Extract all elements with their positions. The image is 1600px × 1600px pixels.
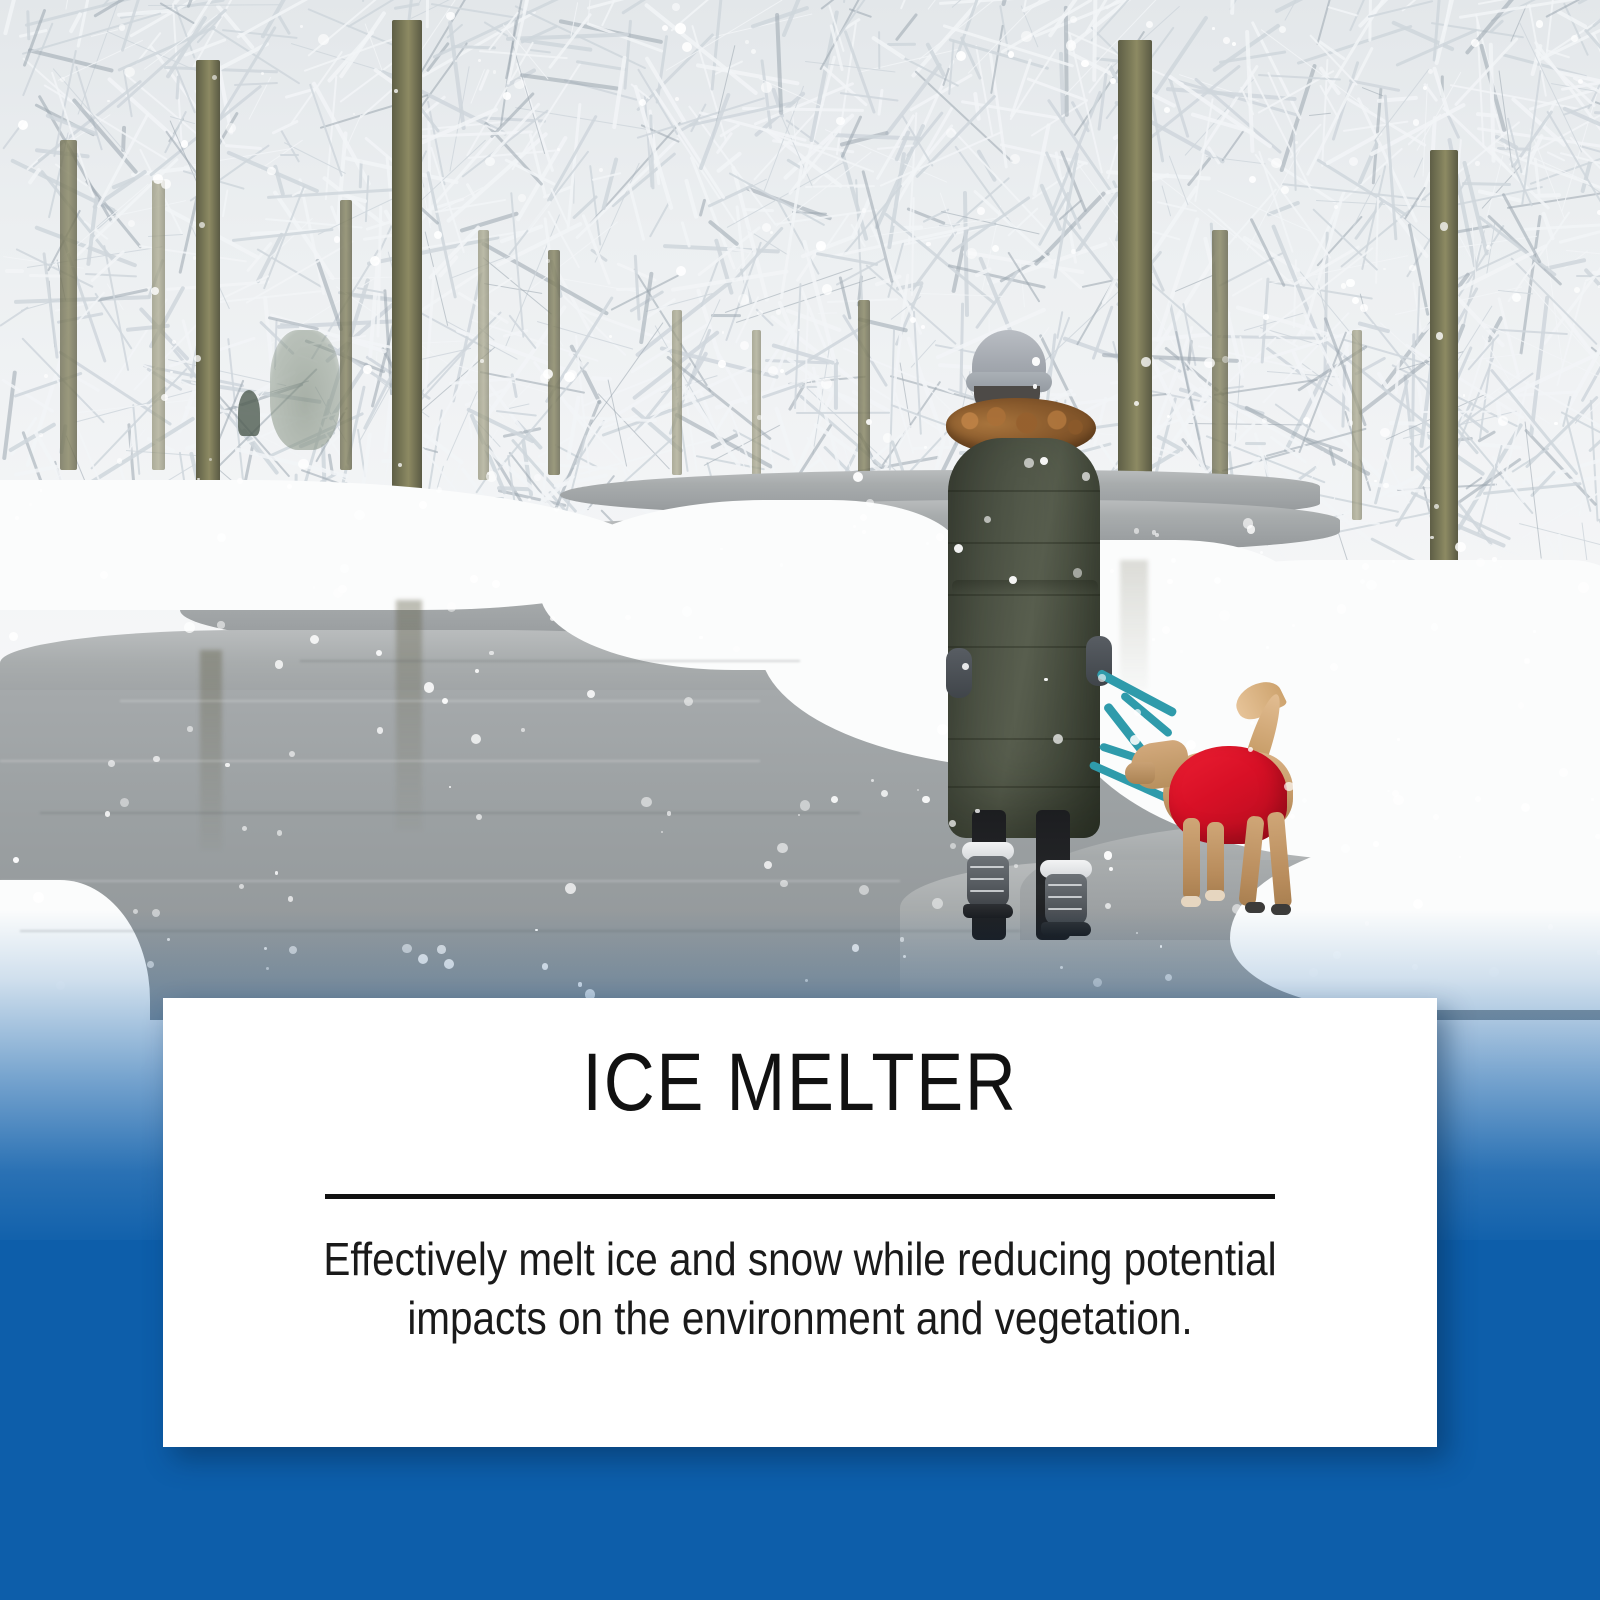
subtitle-line-1: Effectively melt ice and snow while redu… [323,1233,1276,1285]
title-divider [325,1194,1275,1199]
page-title: ICE MELTER [252,1042,1348,1124]
falling-snow [0,0,1600,1000]
subtitle: Effectively melt ice and snow while redu… [292,1230,1308,1348]
ice-melter-poster: ICE MELTER Effectively melt ice and snow… [0,0,1600,1600]
content-card: ICE MELTER Effectively melt ice and snow… [163,998,1437,1447]
subtitle-line-2: impacts on the environment and vegetatio… [292,1289,1308,1348]
